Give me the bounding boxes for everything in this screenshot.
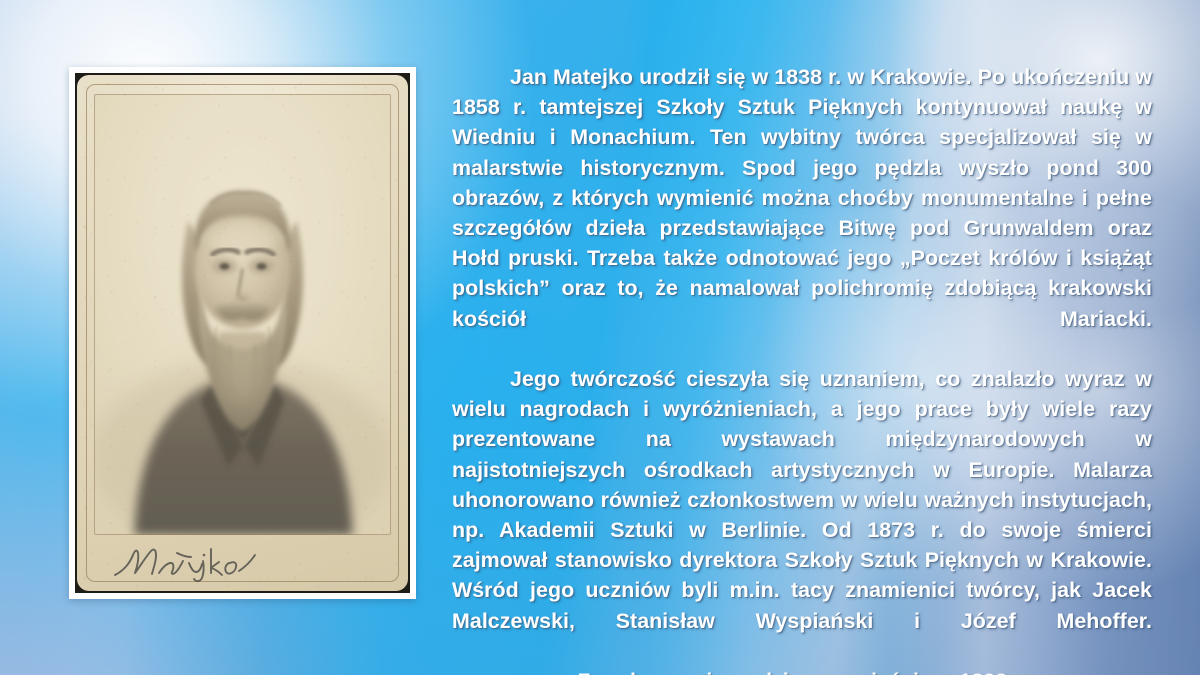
paragraph-1: Jan Matejko urodził się w 1838 r. w Krak… [452,62,1152,364]
paragraph-3: Zmarł w swoim rodzinnym mieście w 1893 r… [452,666,1152,675]
portrait-photo-dark-edge [75,73,410,593]
card-paper-grain [77,75,408,591]
portrait-photo-frame [69,67,416,599]
slide: Jan Matejko urodził się w 1838 r. w Krak… [0,0,1200,675]
article-text: Jan Matejko urodził się w 1838 r. w Krak… [452,62,1152,675]
paragraph-2: Jego twórczość cieszyła się uznaniem, co… [452,364,1152,666]
portrait-cabinet-card [77,75,408,591]
